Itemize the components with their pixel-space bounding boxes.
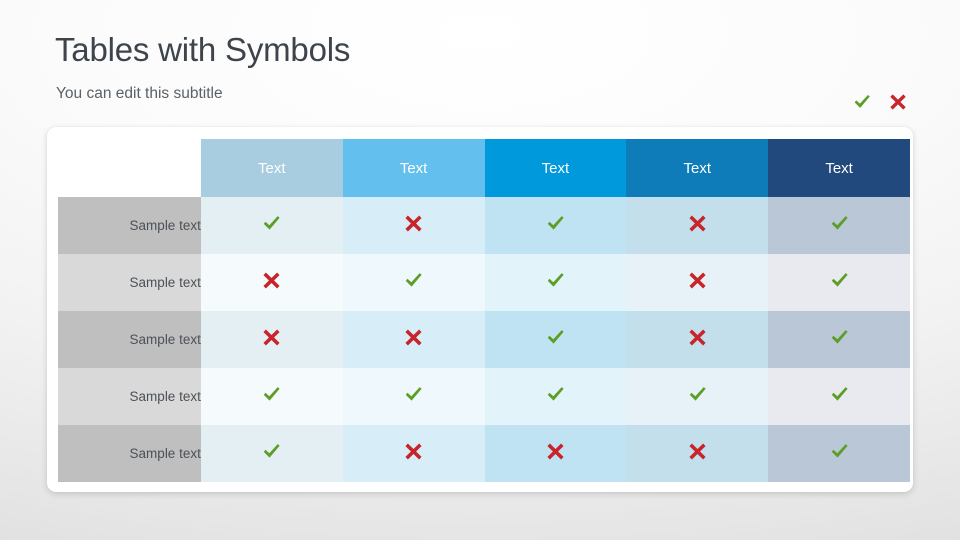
symbol-cell-cross[interactable] (485, 425, 627, 482)
symbol-cell-check[interactable] (626, 368, 768, 425)
check-icon (545, 327, 566, 348)
check-icon (829, 327, 850, 348)
row-label: Sample text (130, 332, 201, 347)
slide-canvas: Tables with Symbols You can edit this su… (0, 0, 960, 540)
row-label-cell[interactable]: Sample text (58, 197, 201, 254)
cross-icon (261, 327, 282, 348)
row-label-cell[interactable]: Sample text (58, 254, 201, 311)
check-icon (545, 213, 566, 234)
table-row: Sample text (58, 425, 910, 482)
symbol-cell-cross[interactable] (626, 197, 768, 254)
cross-icon (687, 441, 708, 462)
symbol-cell-check[interactable] (343, 254, 485, 311)
cross-icon (261, 270, 282, 291)
check-icon (829, 441, 850, 462)
column-header-label: Text (400, 160, 428, 177)
page-title: Tables with Symbols (55, 28, 350, 72)
cross-icon (403, 213, 424, 234)
symbol-cell-check[interactable] (485, 254, 627, 311)
cross-icon (403, 327, 424, 348)
row-label: Sample text (130, 275, 201, 290)
column-header-5[interactable]: Text (768, 139, 910, 197)
check-icon (403, 270, 424, 291)
symbol-cell-check[interactable] (485, 368, 627, 425)
table-body: Sample textSample textSample textSample … (58, 197, 910, 482)
cross-icon (403, 441, 424, 462)
cross-icon (687, 213, 708, 234)
symbol-cell-check[interactable] (768, 425, 910, 482)
cross-icon (687, 327, 708, 348)
symbol-cell-check[interactable] (768, 254, 910, 311)
symbol-cell-cross[interactable] (626, 425, 768, 482)
symbol-cell-check[interactable] (768, 311, 910, 368)
column-header-1[interactable]: Text (201, 139, 343, 197)
cross-icon (545, 441, 566, 462)
column-header-label: Text (825, 160, 853, 177)
symbol-cell-check[interactable] (485, 311, 627, 368)
symbol-cell-cross[interactable] (626, 254, 768, 311)
check-icon (829, 213, 850, 234)
symbol-cell-check[interactable] (201, 197, 343, 254)
page-subtitle: You can edit this subtitle (56, 83, 223, 105)
symbol-cell-cross[interactable] (343, 425, 485, 482)
table-row: Sample text (58, 368, 910, 425)
row-label: Sample text (130, 389, 201, 404)
symbol-cell-check[interactable] (343, 368, 485, 425)
symbol-cell-check[interactable] (201, 425, 343, 482)
column-header-label: Text (258, 160, 286, 177)
column-header-3[interactable]: Text (485, 139, 627, 197)
check-icon (829, 270, 850, 291)
symbols-table: TextTextTextTextText Sample textSample t… (58, 139, 910, 482)
check-icon (545, 384, 566, 405)
symbol-cell-cross[interactable] (343, 197, 485, 254)
table-row: Sample text (58, 197, 910, 254)
table-card: TextTextTextTextText Sample textSample t… (47, 127, 913, 492)
check-icon (261, 384, 282, 405)
symbol-cell-cross[interactable] (626, 311, 768, 368)
cross-icon (687, 270, 708, 291)
symbol-cell-check[interactable] (201, 368, 343, 425)
cross-icon (888, 92, 908, 112)
check-icon (687, 384, 708, 405)
column-header-2[interactable]: Text (343, 139, 485, 197)
check-icon (261, 213, 282, 234)
column-header-4[interactable]: Text (626, 139, 768, 197)
check-icon (545, 270, 566, 291)
row-label: Sample text (130, 446, 201, 461)
row-label-cell[interactable]: Sample text (58, 368, 201, 425)
table-header-row: TextTextTextTextText (58, 139, 910, 197)
column-header-label: Text (683, 160, 711, 177)
symbol-cell-cross[interactable] (343, 311, 485, 368)
row-label-cell[interactable]: Sample text (58, 311, 201, 368)
row-label-cell[interactable]: Sample text (58, 425, 201, 482)
symbol-cell-cross[interactable] (201, 254, 343, 311)
column-header-label: Text (542, 160, 570, 177)
check-icon (403, 384, 424, 405)
row-label: Sample text (130, 218, 201, 233)
symbol-cell-check[interactable] (485, 197, 627, 254)
table-corner-cell (58, 139, 201, 197)
check-icon (852, 92, 872, 112)
table-row: Sample text (58, 311, 910, 368)
table-row: Sample text (58, 254, 910, 311)
check-icon (261, 441, 282, 462)
symbol-cell-check[interactable] (768, 368, 910, 425)
symbol-cell-cross[interactable] (201, 311, 343, 368)
symbol-cell-check[interactable] (768, 197, 910, 254)
check-icon (829, 384, 850, 405)
decorative-symbols (852, 92, 908, 112)
